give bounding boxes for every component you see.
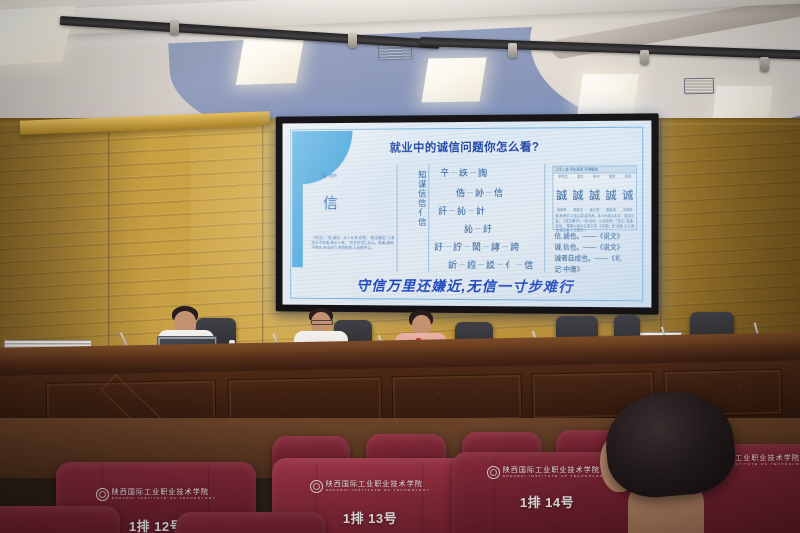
track-spotlight-icon [170, 20, 179, 35]
evolution-glyph: 訢 [448, 258, 457, 271]
evolution-glyph: 俈 [456, 186, 465, 199]
slide-column-vertical: 知谋信信亻信 [403, 164, 430, 272]
evolution-glyph: 䛈 [459, 166, 468, 179]
slide-etymology-note: 《说文》:"信,诚也。从人从言,会意。"段玉裁注:"人言则无不信者,故从人言。"… [312, 236, 395, 252]
slide-column-dictionary: 汉字 | 诚 字形演变 字源解说 甲骨文 金文 篆书 繁体 简体 誠 誠 誠 [550, 163, 639, 273]
dictionary-label: 简体 [625, 173, 632, 178]
dictionary-label: 周金文 [573, 207, 583, 212]
track-spotlight-icon [508, 43, 517, 58]
evolution-dash: — [502, 244, 508, 250]
slide-quote: 信,诚也。——《说文》 [554, 232, 637, 243]
dais-carved-panel [392, 374, 523, 422]
projection-screen: 就业中的诚信问题你怎么看? 信 xìn 信 《说文》:"信,诚也。从人从言,会意… [276, 113, 659, 314]
evolution-row: 訫 — 訏 [464, 222, 492, 235]
slide-slogan: 守信万里还嫌近,无信一寸步难行 [282, 275, 651, 297]
evolution-glyph: 䇂 [440, 166, 449, 179]
dictionary-glyph-row: 誠 誠 誠 誠 诚 [553, 178, 636, 206]
dictionary-card: 汉字 | 诚 字形演变 字源解说 甲骨文 金文 篆书 繁体 简体 誠 誠 誠 [552, 165, 637, 230]
slide-title: 就业中的诚信问题你怎么看? [282, 138, 651, 156]
evolution-glyph: 訤 [486, 258, 495, 271]
evolution-glyph: 誾 [472, 240, 481, 253]
audience-chair [176, 512, 326, 533]
dictionary-label: 楷繁体 [606, 207, 616, 212]
evolution-dash: — [470, 169, 476, 175]
dictionary-label: 繁体 [609, 173, 616, 178]
evolution-dash: — [467, 189, 473, 195]
dais-chevron-motif [422, 391, 492, 407]
ceiling-light-panel [577, 74, 639, 116]
evolution-row: 䇂 — 䛈 — 䛬 [440, 166, 487, 179]
evolution-glyph: 訠 [467, 258, 476, 271]
foreground-student [600, 392, 750, 533]
dictionary-glyph: 誠 [572, 187, 583, 203]
evolution-glyph: 信 [524, 258, 533, 271]
school-name-en: SHAANXI INSTITUTE OF TECHNOLOGY [503, 475, 608, 478]
slide-pictograph: 信 [323, 192, 341, 213]
school-name: 陕西国际工业职业技术学院 SHAANXI INSTITUTE OF TECHNO… [112, 489, 217, 500]
dictionary-labels-bottom: 商甲骨 周金文 秦小篆 楷繁体 今简体 [553, 207, 636, 212]
track-spotlight-icon [640, 50, 649, 65]
ceiling-light-panel [421, 57, 486, 102]
evolution-glyph: 䛬 [478, 166, 487, 179]
dictionary-glyph: 誠 [605, 187, 616, 203]
evolution-row: 訢 — 訠 — 訤 — 亻 — 信 [448, 258, 533, 271]
school-name-en: SHAANXI INSTITUTE OF TECHNOLOGY [326, 489, 431, 492]
dictionary-label: 秦小篆 [590, 207, 600, 212]
evolution-dash: — [464, 244, 470, 250]
evolution-glyph: 信 [494, 186, 503, 199]
dictionary-body-text: 诚,形声字,从言从成,成亦声。本义为真心实意、真实无妄。《说文解字》:"诚,信也… [553, 212, 636, 234]
ceiling [0, 0, 800, 132]
school-name-en: SHAANXI INSTITUTE OF TECHNOLOGY [112, 497, 217, 500]
chair-school-logo: 陕西国际工业职业技术学院 SHAANXI INSTITUTE OF TECHNO… [272, 480, 468, 493]
school-name: 陕西国际工业职业技术学院 SHAANXI INSTITUTE OF TECHNO… [326, 481, 431, 492]
school-emblem-icon [310, 480, 323, 493]
evolution-glyph: 訫 [457, 204, 466, 217]
eyeglasses-icon [311, 320, 333, 325]
slide-column-header: 信 xìn [321, 170, 336, 179]
evolution-dash: — [483, 244, 489, 250]
dictionary-glyph: 诚 [622, 187, 633, 203]
projected-slide: 就业中的诚信问题你怎么看? 信 xìn 信 《说文》:"信,诚也。从人从言,会意… [282, 120, 651, 307]
ceiling-light-panel [236, 37, 305, 85]
dictionary-label: 篆书 [593, 174, 600, 179]
track-spotlight-icon [348, 33, 357, 48]
evolution-row: 訐 — 訫 — 計 [438, 204, 485, 217]
dictionary-label: 商甲骨 [557, 207, 567, 212]
evolution-glyph: 誇 [510, 240, 519, 253]
dictionary-label: 甲骨文 [558, 174, 568, 179]
evolution-dash: — [478, 262, 484, 268]
evolution-glyph: 訫 [464, 222, 473, 235]
evolution-glyph: 計 [476, 204, 485, 217]
evolution-row: 俈 — 䚱 — 信 [456, 186, 503, 199]
dais-chevron-motif [270, 394, 340, 410]
dictionary-glyph: 誠 [556, 187, 567, 203]
chair-school-logo: 陕西国际工业职业技术学院 SHAANXI INSTITUTE OF TECHNO… [56, 488, 256, 501]
slide-quote: 记·中庸》 [554, 265, 637, 276]
school-name: 陕西国际工业职业技术学院 SHAANXI INSTITUTE OF TECHNO… [503, 467, 608, 478]
dictionary-label: 金文 [577, 174, 583, 179]
evolution-glyph: 䚱 [475, 186, 484, 199]
school-emblem-icon [96, 488, 109, 501]
audience-chair [0, 506, 120, 533]
evolution-dash: — [459, 261, 465, 267]
evolution-glyph: 訐 [438, 204, 447, 217]
student-hair [602, 387, 739, 502]
school-emblem-icon [487, 466, 500, 479]
dictionary-label: 今简体 [623, 207, 633, 212]
evolution-dash: — [445, 243, 451, 249]
evolution-glyph: 訏 [434, 240, 443, 253]
dictionary-glyph: 誠 [589, 187, 600, 203]
slide-quote: 诚者自成也。——《礼 [554, 254, 637, 265]
lecture-hall-photo: 就业中的诚信问题你怎么看? 信 xìn 信 《说文》:"信,诚也。从人从言,会意… [0, 0, 800, 533]
slide-column-evolution: 䇂 — 䛈 — 䛬 俈 — 䚱 — 信 訐 — [434, 164, 545, 273]
evolution-dash: — [497, 262, 503, 268]
evolution-dash: — [468, 207, 474, 213]
evolution-glyph: 訏 [483, 222, 492, 235]
evolution-glyph: 誟 [491, 240, 500, 253]
slide-quote: 诚,信也。——《说文》 [554, 243, 637, 254]
evolution-dash: — [516, 262, 522, 268]
evolution-dash: — [486, 189, 492, 195]
evolution-dash: — [449, 208, 455, 214]
slide-column-etymology: 信 xìn 信 《说文》:"信,诚也。从人从言,会意。"段玉裁注:"人言则无不信… [308, 164, 398, 271]
ceiling-air-vent [684, 78, 714, 95]
evolution-glyph: 詝 [453, 240, 462, 253]
track-spotlight-icon [760, 57, 769, 72]
evolution-glyph: 亻 [505, 258, 514, 271]
evolution-dash: — [451, 170, 457, 176]
slide-quotes: 信,诚也。——《说文》 诚,信也。——《说文》 诚者自成也。——《礼 记·中庸》 [554, 232, 637, 276]
evolution-row: 訏 — 詝 — 誾 — 誟 — 誇 [434, 240, 519, 253]
slide-content: 信 xìn 信 《说文》:"信,诚也。从人从言,会意。"段玉裁注:"人言则无不信… [308, 163, 639, 273]
evolution-dash: — [475, 226, 481, 232]
ceiling-light-panel [0, 6, 75, 66]
